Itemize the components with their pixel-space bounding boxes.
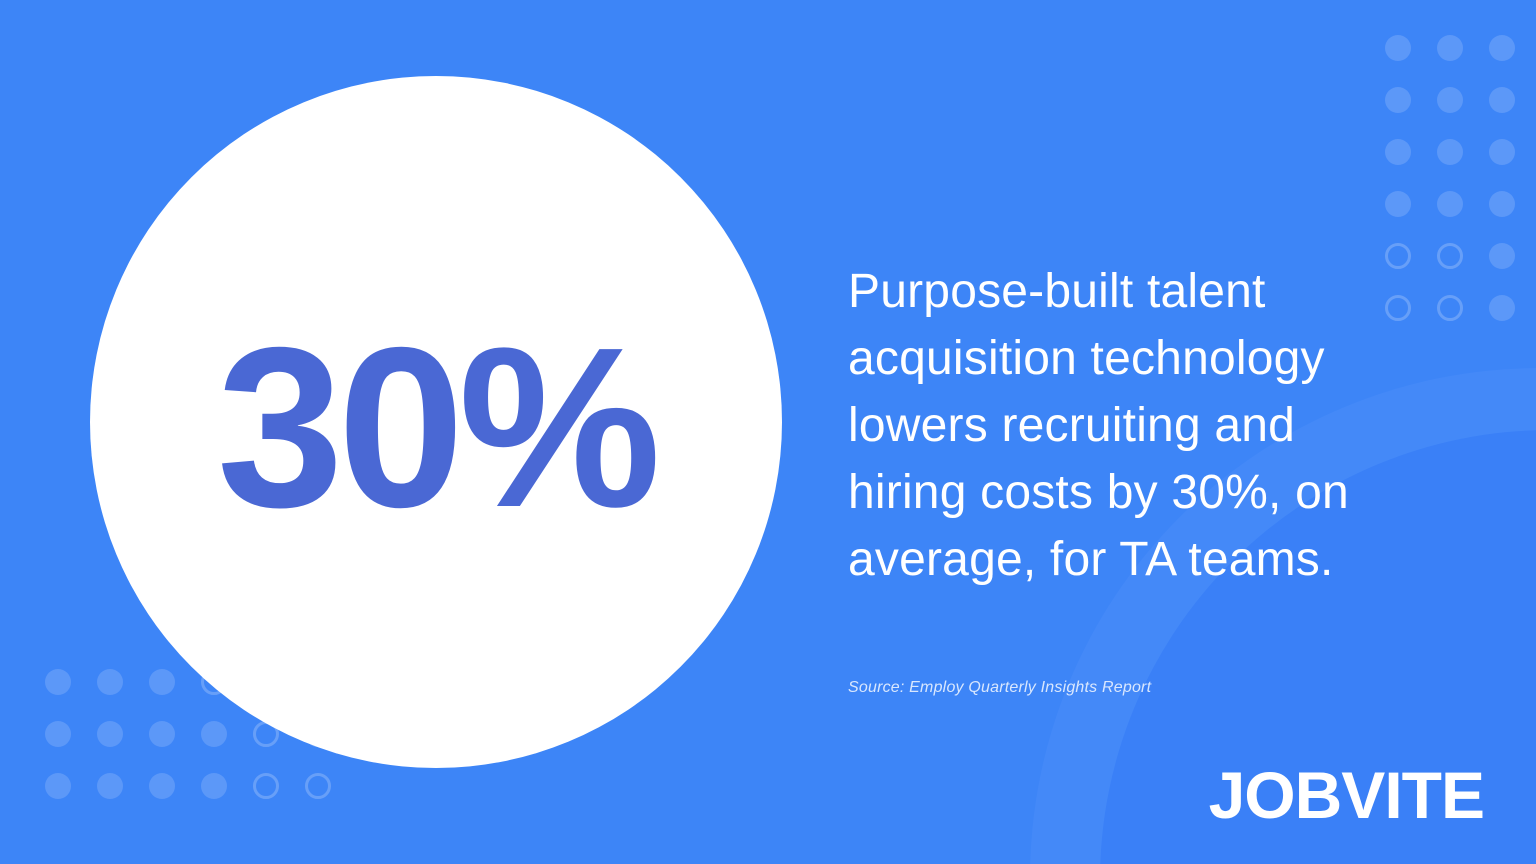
headline: Purpose-built talentacquisition technolo… <box>848 258 1388 593</box>
dot-filled <box>1489 87 1515 113</box>
copy-block: Purpose-built talentacquisition technolo… <box>848 258 1388 593</box>
headline-line: Purpose-built talent <box>848 265 1266 318</box>
dot-outline <box>1437 243 1463 269</box>
headline-line: acquisition technology <box>848 332 1325 385</box>
dot-filled <box>1437 191 1463 217</box>
dot-filled <box>1437 87 1463 113</box>
dot-filled <box>1385 35 1411 61</box>
dot-filled <box>1489 191 1515 217</box>
dot-filled <box>1489 243 1515 269</box>
dot-filled <box>97 773 123 799</box>
dot-filled <box>97 669 123 695</box>
dot-filled <box>45 721 71 747</box>
dot-filled <box>1437 139 1463 165</box>
stat-value: 30% <box>217 314 655 542</box>
dot-filled <box>201 721 227 747</box>
dot-filled <box>149 721 175 747</box>
dot-filled <box>45 669 71 695</box>
dot-filled <box>1385 87 1411 113</box>
dot-outline <box>1437 295 1463 321</box>
dot-grid-top-right <box>1372 22 1528 334</box>
dot-filled <box>1489 35 1515 61</box>
dot-filled <box>1437 35 1463 61</box>
promo-graphic: 30% Purpose-built talentacquisition tech… <box>0 0 1536 864</box>
dot-filled <box>201 773 227 799</box>
headline-line: lowers recruiting and <box>848 399 1295 452</box>
dot-filled <box>1385 139 1411 165</box>
dot-outline <box>305 773 331 799</box>
source-note: Source: Employ Quarterly Insights Report <box>848 679 1151 697</box>
dot-filled <box>45 773 71 799</box>
jobvite-logo: JOBVITE <box>1209 762 1484 828</box>
headline-line: hiring costs by 30%, on <box>848 466 1349 519</box>
stat-circle: 30% <box>90 76 782 768</box>
dot-filled <box>149 773 175 799</box>
headline-line: average, for TA teams. <box>848 533 1334 586</box>
dot-filled <box>1489 295 1515 321</box>
dot-outline <box>1385 243 1411 269</box>
dot-filled <box>97 721 123 747</box>
dot-outline <box>1385 295 1411 321</box>
dot-filled <box>149 669 175 695</box>
dot-outline <box>253 773 279 799</box>
dot-filled <box>1489 139 1515 165</box>
dot-filled <box>1385 191 1411 217</box>
